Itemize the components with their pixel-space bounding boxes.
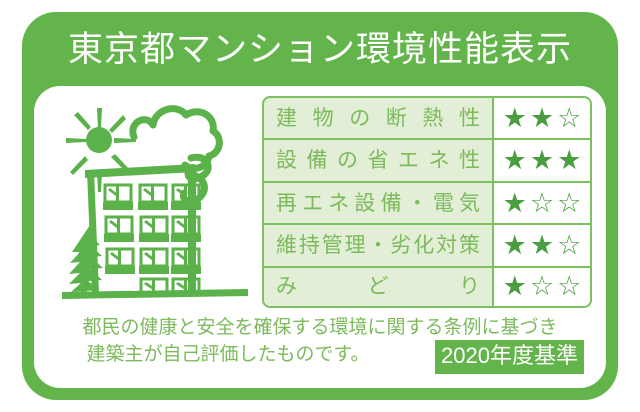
rating-stars-cell: ★ ★ ☆ [494, 223, 592, 265]
rating-label: 再エネ設備・電気 [276, 193, 480, 214]
rating-label-cell: 建物の断熱性 [262, 96, 494, 138]
eco-building-illustration [52, 92, 267, 310]
star-filled: ★ [503, 190, 527, 217]
star-empty: ☆ [557, 273, 581, 300]
table-row: 建物の断熱性 ★ ★ ☆ [262, 96, 592, 138]
star-filled: ★ [503, 232, 527, 259]
table-row: 維持管理・劣化対策 ★ ★ ☆ [262, 223, 592, 265]
table-row: 設備の省エネ性 ★ ★ ★ [262, 138, 592, 180]
star-filled: ★ [530, 232, 554, 259]
window-group [103, 185, 201, 293]
star-filled: ★ [530, 105, 554, 132]
sun-icon [66, 108, 136, 192]
rating-label-cell: 再エネ設備・電気 [262, 181, 494, 223]
table-row: 再エネ設備・電気 ★ ☆ ☆ [262, 181, 592, 223]
footer-line-1: 都民の健康と安全を確保する環境に関する条例に基づき [34, 316, 606, 340]
star-filled: ★ [503, 273, 527, 300]
rating-stars-cell: ★ ☆ ☆ [494, 266, 592, 308]
rating-label: 設備の省エネ性 [276, 150, 480, 171]
rating-label-cell: 維持管理・劣化対策 [262, 223, 494, 265]
rating-stars-cell: ★ ★ ☆ [494, 96, 592, 138]
rating-table: 建物の断熱性 ★ ★ ☆ 設備の省エネ性 ★ ★ ★ [262, 96, 592, 308]
label-inner-panel: 建物の断熱性 ★ ★ ☆ 設備の省エネ性 ★ ★ ★ [34, 86, 606, 388]
star-empty: ☆ [557, 190, 581, 217]
star-empty: ☆ [530, 190, 554, 217]
table-row: みどり ★ ☆ ☆ [262, 266, 592, 308]
footer-note: 都民の健康と安全を確保する環境に関する条例に基づき 建築主が自己評価したものです… [34, 314, 606, 384]
page-title: 東京都マンション環境性能表示 [22, 28, 618, 72]
rating-label: 建物の断熱性 [276, 108, 480, 129]
status-badge: 2020年度基準 [435, 340, 584, 374]
star-filled: ★ [530, 147, 554, 174]
rating-label: 維持管理・劣化対策 [276, 235, 480, 256]
rating-stars-cell: ★ ☆ ☆ [494, 181, 592, 223]
environmental-performance-label: 東京都マンション環境性能表示 [22, 12, 618, 400]
star-empty: ☆ [557, 105, 581, 132]
star-empty: ☆ [530, 273, 554, 300]
star-filled: ★ [503, 105, 527, 132]
rating-label: みどり [276, 276, 480, 297]
star-empty: ☆ [557, 232, 581, 259]
tree-canopy-icon [133, 109, 220, 202]
rating-label-cell: みどり [262, 266, 494, 308]
star-filled: ★ [557, 147, 581, 174]
star-filled: ★ [503, 147, 527, 174]
rating-stars-cell: ★ ★ ★ [494, 138, 592, 180]
rating-label-cell: 設備の省エネ性 [262, 138, 494, 180]
